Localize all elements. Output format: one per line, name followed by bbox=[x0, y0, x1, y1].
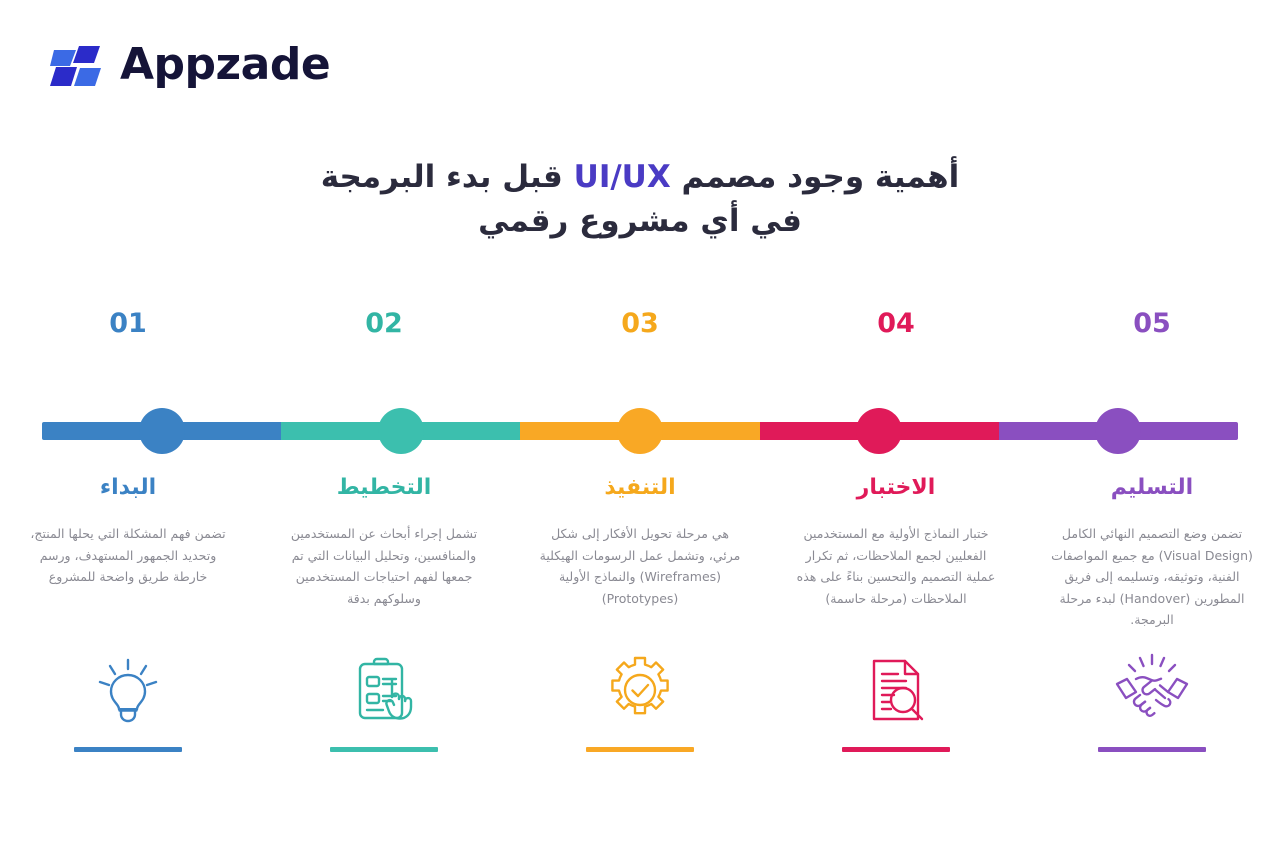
timeline-dot-cell-05 bbox=[999, 406, 1238, 456]
title-accent-uiux: UI/UX bbox=[574, 159, 671, 195]
step-underline-02 bbox=[330, 747, 438, 752]
step-title-05: التسليم bbox=[1046, 475, 1258, 501]
timeline-dot-cell-01 bbox=[42, 406, 281, 456]
step-number-04: 04 bbox=[768, 310, 1024, 370]
step-title-02: التخطيط bbox=[278, 475, 490, 501]
timeline-dot-05[interactable] bbox=[1095, 408, 1141, 454]
brand-logo: Appzade bbox=[48, 36, 330, 94]
timeline-dots bbox=[42, 406, 1238, 456]
step-underline-01 bbox=[74, 747, 182, 752]
step-number-01: 01 bbox=[0, 310, 256, 370]
lightbulb-icon bbox=[22, 647, 234, 733]
timeline-dot-01[interactable] bbox=[139, 408, 185, 454]
handshake-icon bbox=[1046, 647, 1258, 733]
step-underline-05 bbox=[1098, 747, 1206, 752]
step-number-02: 02 bbox=[256, 310, 512, 370]
timeline-dot-04[interactable] bbox=[856, 408, 902, 454]
timeline-dot-cell-04 bbox=[760, 406, 999, 456]
step-underline-04 bbox=[842, 747, 950, 752]
step-columns: البداء تضمن فهم المشكلة التي يحلها المنت… bbox=[0, 475, 1280, 752]
page-title: أهمية وجود مصمم UI/UX قبل بدء البرمجة في… bbox=[0, 155, 1280, 243]
process-timeline: 01 02 03 04 05 البداء تضمن فهم المشكلة ا… bbox=[0, 310, 1280, 810]
step-number-03: 03 bbox=[512, 310, 768, 370]
step-column-03: التنفيذ هي مرحلة تحويل الأفكار إلى شكل م… bbox=[512, 475, 768, 752]
timeline-dot-cell-02 bbox=[281, 406, 520, 456]
title-text-after: قبل بدء البرمجة bbox=[321, 159, 574, 195]
step-column-01: البداء تضمن فهم المشكلة التي يحلها المنت… bbox=[0, 475, 256, 752]
clipboard-hand-icon bbox=[278, 647, 490, 733]
step-body-04: ختبار النماذج الأولية مع المستخدمين الفع… bbox=[790, 523, 1002, 643]
step-column-05: التسليم تضمن وضع التصميم النهائي الكامل … bbox=[1024, 475, 1280, 752]
timeline-dot-02[interactable] bbox=[378, 408, 424, 454]
step-underline-03 bbox=[586, 747, 694, 752]
step-title-01: البداء bbox=[22, 475, 234, 501]
gear-check-icon bbox=[534, 647, 746, 733]
step-title-04: الاختبار bbox=[790, 475, 1002, 501]
page-title-line-1: أهمية وجود مصمم UI/UX قبل بدء البرمجة bbox=[0, 155, 1280, 199]
timeline-dot-cell-03 bbox=[520, 406, 759, 456]
appzade-z-logo-icon bbox=[48, 36, 106, 94]
document-search-icon bbox=[790, 647, 1002, 733]
timeline-dot-03[interactable] bbox=[617, 408, 663, 454]
page-title-line-2: في أي مشروع رقمي bbox=[0, 199, 1280, 243]
step-numbers-row: 01 02 03 04 05 bbox=[0, 310, 1280, 370]
step-body-05: تضمن وضع التصميم النهائي الكامل (Visual … bbox=[1046, 523, 1258, 643]
brand-name: Appzade bbox=[120, 43, 330, 87]
step-column-02: التخطيط تشمل إجراء أبحاث عن المستخدمين و… bbox=[256, 475, 512, 752]
title-text-before: أهمية وجود مصمم bbox=[671, 159, 960, 195]
step-title-03: التنفيذ bbox=[534, 475, 746, 501]
timeline-bar bbox=[42, 406, 1238, 456]
step-body-03: هي مرحلة تحويل الأفكار إلى شكل مرئي، وتش… bbox=[534, 523, 746, 643]
step-body-01: تضمن فهم المشكلة التي يحلها المنتج، وتحد… bbox=[22, 523, 234, 643]
step-body-02: تشمل إجراء أبحاث عن المستخدمين والمنافسي… bbox=[278, 523, 490, 643]
step-column-04: الاختبار ختبار النماذج الأولية مع المستخ… bbox=[768, 475, 1024, 752]
step-number-05: 05 bbox=[1024, 310, 1280, 370]
